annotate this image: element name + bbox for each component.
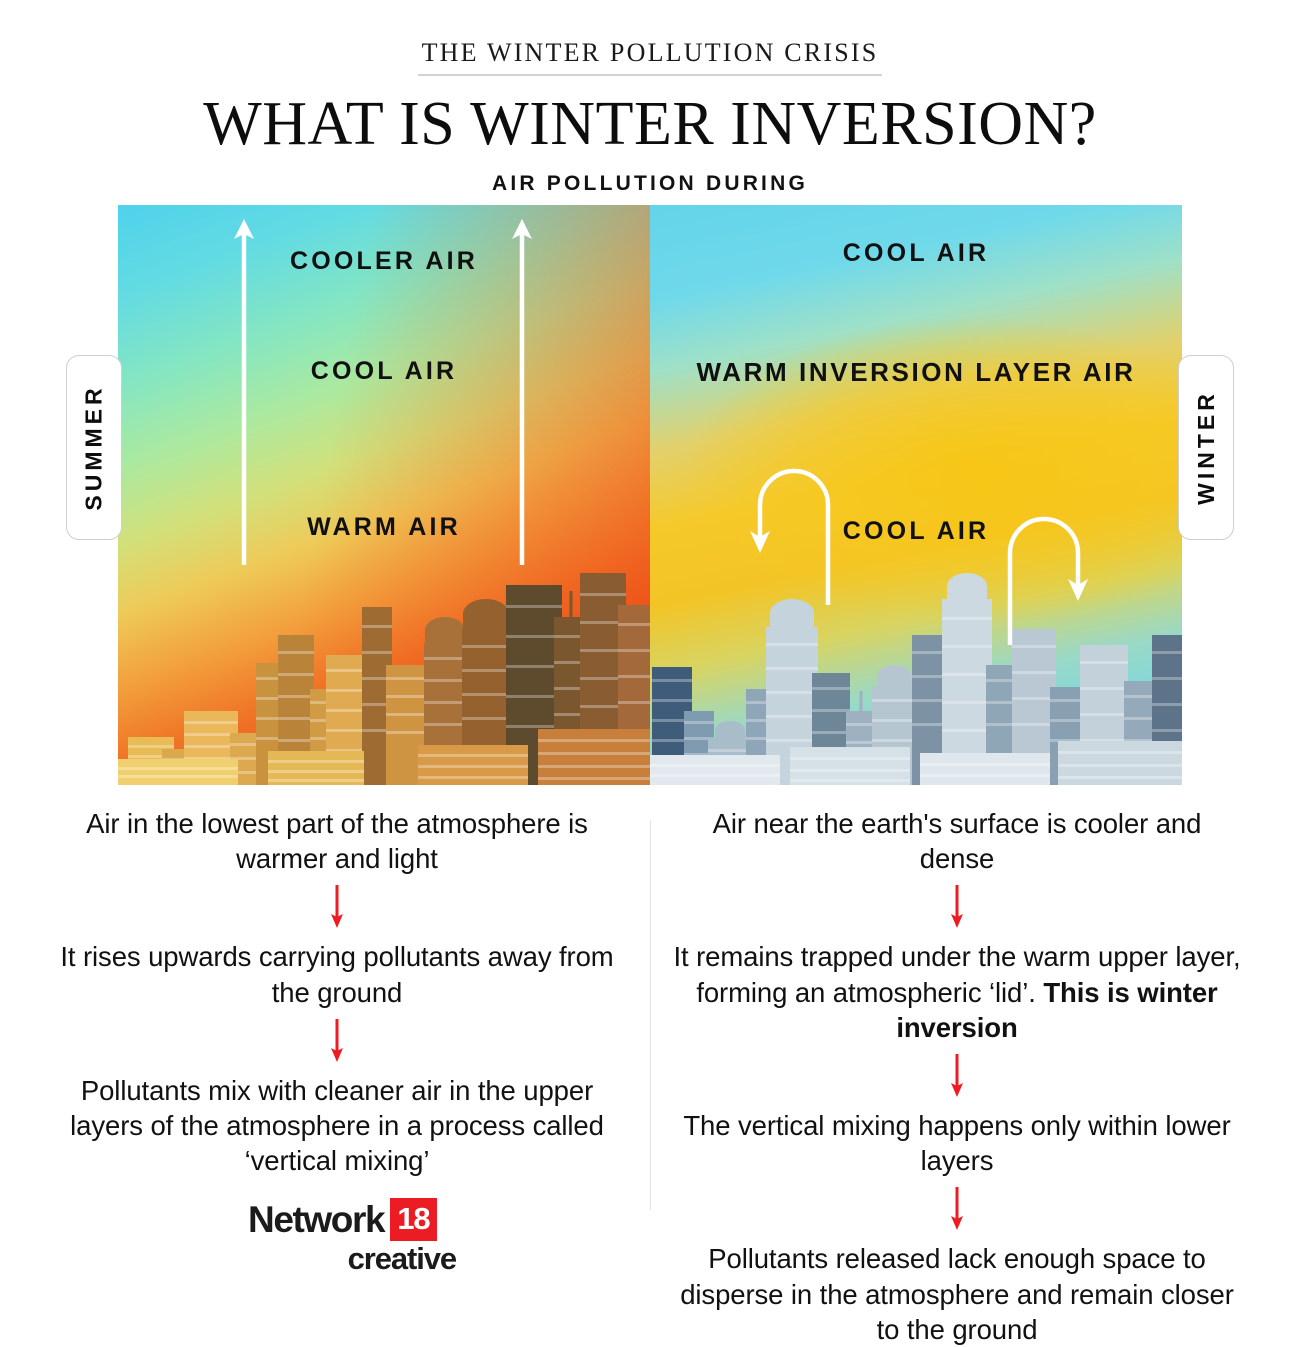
step-text-highlighted: It remains trapped under the warm upper …: [672, 939, 1242, 1045]
inversion-diagram: COOLER AIR COOL AIR WARM AIR: [118, 205, 1182, 785]
page-subtitle: AIR POLLUTION DURING: [0, 172, 1300, 196]
step-text: Pollutants released lack enough space to…: [672, 1241, 1242, 1347]
logo-top-row: Network 18: [248, 1198, 458, 1241]
logo-tagline: creative: [248, 1243, 458, 1274]
step-arrow-down-icon: [950, 1187, 964, 1231]
step-arrow-down-icon: [330, 1019, 344, 1063]
step-text: The vertical mixing happens only within …: [672, 1108, 1242, 1178]
step-text: Pollutants mix with cleaner air in the u…: [52, 1073, 622, 1179]
page-title: WHAT IS WINTER INVERSION?: [0, 92, 1300, 157]
winter-panel: COOL AIR WARM INVERSION LAYER AIR COOL A…: [650, 205, 1182, 785]
season-tab-winter-label: WINTER: [1193, 390, 1220, 505]
summer-updraft-arrows: [118, 205, 650, 785]
step-arrow-down-icon: [950, 885, 964, 929]
step-text: Air in the lowest part of the atmosphere…: [52, 806, 622, 876]
season-tab-winter: WINTER: [1178, 355, 1234, 540]
column-divider: [650, 820, 651, 1210]
winter-steps-column: Air near the earth's surface is cooler a…: [672, 806, 1242, 1347]
step-arrow-down-icon: [330, 885, 344, 929]
step-arrow-down-icon: [950, 1054, 964, 1098]
season-tab-summer-label: SUMMER: [81, 384, 108, 510]
logo-wordmark: Network: [248, 1201, 384, 1238]
summer-panel: COOLER AIR COOL AIR WARM AIR: [118, 205, 650, 785]
eyebrow-kicker: THE WINTER POLLUTION CRISIS: [0, 38, 1300, 68]
logo-18-badge: 18: [390, 1198, 436, 1241]
eyebrow-divider: [418, 74, 882, 76]
winter-trapped-arrows: [650, 205, 1182, 785]
step-text: It rises upwards carrying pollutants awa…: [52, 939, 622, 1009]
network18-creative-logo: Network 18 creative: [248, 1198, 458, 1274]
summer-steps-column: Air in the lowest part of the atmosphere…: [52, 806, 622, 1178]
season-tab-summer: SUMMER: [66, 355, 122, 540]
step-text: Air near the earth's surface is cooler a…: [672, 806, 1242, 876]
